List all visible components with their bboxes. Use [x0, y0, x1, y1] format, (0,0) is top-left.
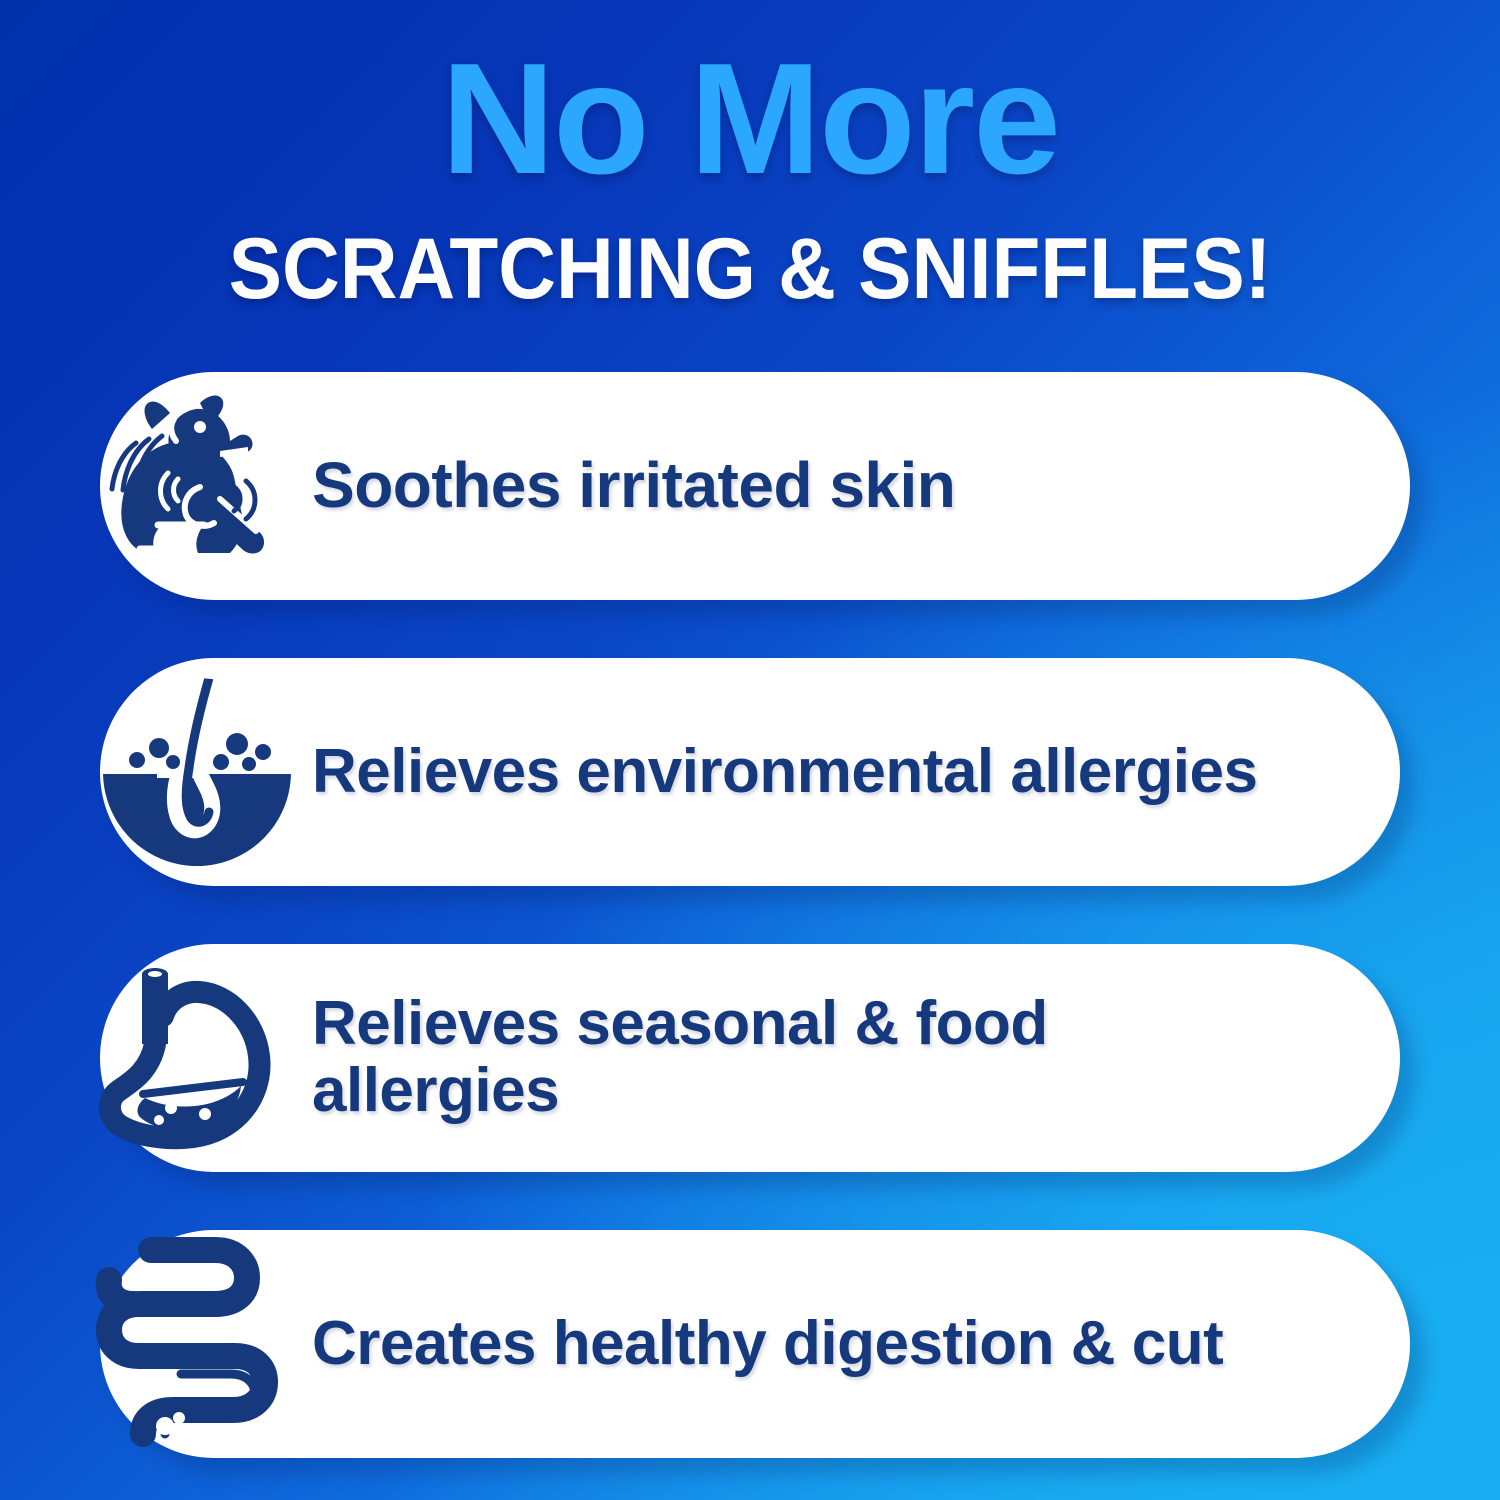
- benefit-card: Creates healthy digestion & cut: [100, 1230, 1410, 1458]
- benefit-label: Creates healthy digestion & cut: [312, 1311, 1257, 1378]
- benefit-label: Soothes irritated skin: [312, 451, 989, 520]
- intestine-icon: [82, 1230, 312, 1458]
- headline-block: No More SCRATCHING & SNIFFLES!: [0, 44, 1500, 312]
- benefit-card: Relieves seasonal & food allergies: [100, 944, 1400, 1172]
- benefit-label: Relieves environmental allergies: [312, 739, 1291, 806]
- benefit-card-list: Soothes irritated skin: [100, 372, 1420, 1500]
- benefit-label: Relieves seasonal & food allergies: [312, 991, 1342, 1125]
- stomach-icon: [82, 944, 312, 1172]
- page-title: No More: [0, 44, 1500, 194]
- scratching-dog-icon: [82, 372, 312, 600]
- promo-poster: No More SCRATCHING & SNIFFLES!: [0, 0, 1500, 1500]
- benefit-card: Soothes irritated skin: [100, 372, 1410, 600]
- page-subtitle: SCRATCHING & SNIFFLES!: [53, 226, 1448, 312]
- benefit-card: Relieves environmental allergies: [100, 658, 1400, 886]
- hair-follicle-skin-icon: [82, 658, 312, 886]
